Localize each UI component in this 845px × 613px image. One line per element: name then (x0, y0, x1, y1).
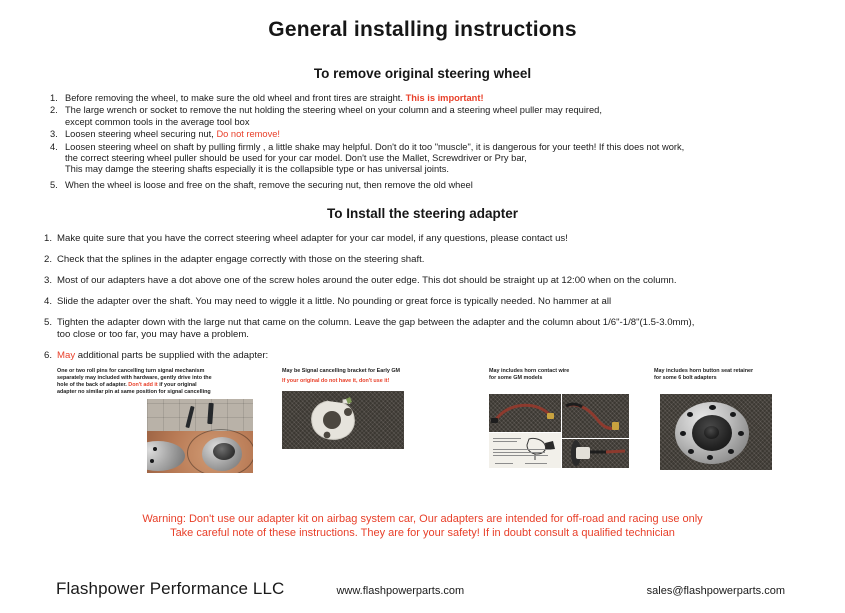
list-item-line: additional parts be supplied with the ad… (75, 350, 268, 361)
figure-row: One or two roll pins for cancelling turn… (0, 368, 845, 508)
list-item: 4. Slide the adapter over the shaft. You… (44, 296, 831, 308)
company-name: Flashpower Performance LLC (56, 579, 284, 599)
list-item-body: Slide the adapter over the shaft. You ma… (57, 296, 831, 308)
list-item: 6. May additional parts be supplied with… (44, 350, 831, 362)
bracket-icon (282, 391, 404, 449)
list-item-body: When the wheel is loose and free on the … (65, 180, 833, 191)
adapter-ring-groove (187, 429, 253, 473)
footer: Flashpower Performance LLC www.flashpowe… (0, 579, 845, 599)
list-item-line: except common tools in the average tool … (65, 117, 833, 128)
caption-line: May be Signal cancelling bracket for Ear… (282, 368, 422, 375)
caption-line: for some 6 bolt adapters (654, 375, 814, 382)
list-item: 1. Before removing the wheel, to make su… (50, 93, 833, 104)
adapter-on-orange-surface (147, 431, 253, 473)
horn-wire-icon (489, 394, 561, 432)
list-item: 3. Most of our adapters have a dot above… (44, 275, 831, 287)
caption-line: for some GM models (489, 375, 639, 382)
section-heading-install-adapter: To Install the steering adapter (0, 206, 845, 221)
warning-text: Warning: Don't use our adapter kit on ai… (0, 512, 845, 540)
sheet-text-line (525, 463, 547, 464)
section-heading-remove-wheel: To remove original steering wheel (0, 66, 845, 81)
list-item-line: This may damge the steering shafts espec… (65, 164, 833, 175)
horn-wire-icon (562, 394, 629, 438)
list-item: 5. When the wheel is loose and free on t… (50, 180, 833, 191)
caption-text: if your original (158, 382, 197, 388)
list-item-line: too close or too far, you may have a pro… (57, 329, 831, 341)
sheet-text-line (493, 455, 548, 456)
figure-horn-contact-wire: May includes horn contact wire for some … (489, 368, 639, 468)
list-item-line: Loosen steering wheel securing nut, (65, 129, 216, 139)
list-item: 4. Loosen steering wheel on shaft by pul… (50, 142, 833, 176)
sheet-text-line (493, 452, 545, 453)
list-item: 3. Loosen steering wheel securing nut, D… (50, 129, 833, 140)
remove-wheel-list: 1. Before removing the wheel, to make su… (0, 93, 845, 191)
email-address[interactable]: sales@flashpowerparts.com (647, 585, 785, 597)
list-item-body: Loosen steering wheel securing nut, Do n… (65, 129, 833, 140)
workshop-floor-background (147, 399, 253, 432)
roll-pins-and-adapter-photo (147, 399, 253, 473)
list-item-number: 5. (44, 317, 57, 329)
horn-contact-wire-photo (489, 394, 629, 468)
list-item-number: 3. (50, 129, 65, 140)
list-item-emphasis: Do not remove! (216, 129, 280, 139)
list-item-emphasis: This is important! (406, 93, 484, 103)
horn-button-seat-retainer-photo (660, 394, 772, 470)
list-item-number: 2. (50, 105, 65, 116)
instruction-sheet (489, 433, 561, 468)
horn-contact-assembly-cell (562, 439, 629, 468)
list-item-number: 5. (50, 180, 65, 191)
list-item-line: the correct steering wheel puller should… (65, 153, 833, 164)
sheet-text-line (493, 438, 521, 439)
list-item-number: 4. (50, 142, 65, 153)
caption-line: adapter no similar pin at same position … (57, 389, 229, 396)
list-item-body: The large wrench or socket to remove the… (65, 105, 833, 128)
warning-line-1: Warning: Don't use our adapter kit on ai… (0, 512, 845, 526)
list-item-number: 3. (44, 275, 57, 287)
sheet-text-line (493, 441, 517, 442)
list-item: 1. Make quite sure that you have the cor… (44, 233, 831, 245)
figure-roll-pins: One or two roll pins for cancelling turn… (57, 368, 229, 473)
list-item-body: Make quite sure that you have the correc… (57, 233, 831, 245)
sheet-text-line (495, 463, 513, 464)
list-item-number: 2. (44, 254, 57, 266)
caption-text: hole of the back of adapter. (57, 382, 128, 388)
list-item-emphasis: May (57, 350, 75, 361)
install-adapter-list: 1. Make quite sure that you have the cor… (0, 233, 845, 362)
bracket-shape-container (282, 391, 404, 449)
caption-line: One or two roll pins for cancelling turn… (57, 368, 229, 375)
list-item-body: May additional parts be supplied with th… (57, 350, 831, 362)
figure-horn-button-seat-retainer: May includes horn button seat retainer f… (654, 368, 814, 470)
instruction-sheet-cell (489, 433, 561, 468)
caption-line: May includes horn contact wire (489, 368, 639, 375)
website-url[interactable]: www.flashpowerparts.com (336, 585, 464, 597)
list-item-line: The large wrench or socket to remove the… (65, 105, 833, 116)
list-item: 2. Check that the splines in the adapter… (44, 254, 831, 266)
signal-cancelling-bracket-photo (282, 391, 404, 449)
figure-caption: One or two roll pins for cancelling turn… (57, 368, 229, 396)
horn-contact-assembly-icon (562, 439, 629, 468)
adapter-flange (147, 441, 185, 471)
sheet-text-line (493, 449, 551, 450)
list-item: 2. The large wrench or socket to remove … (50, 105, 833, 128)
instruction-document-page: General installing instructions To remov… (0, 18, 845, 613)
list-item-body: Most of our adapters have a dot above on… (57, 275, 831, 287)
figure-cancelling-bracket: May be Signal cancelling bracket for Ear… (282, 368, 422, 449)
list-item-number: 6. (44, 350, 57, 362)
warning-line-2: Take careful note of these instructions.… (0, 526, 845, 540)
figure-caption-warning: If your original do not have it, don't u… (282, 378, 422, 385)
list-item-line: Loosen steering wheel on shaft by pullin… (65, 142, 833, 153)
page-title: General installing instructions (0, 18, 845, 42)
list-item-body: Before removing the wheel, to make sure … (65, 93, 833, 104)
caption-emphasis: Don't add it (128, 382, 157, 388)
list-item-line: Before removing the wheel, to make sure … (65, 93, 406, 103)
figure-caption: May includes horn button seat retainer f… (654, 368, 814, 382)
caption-line: May includes horn button seat retainer (654, 368, 814, 375)
figure-caption: May includes horn contact wire for some … (489, 368, 639, 382)
list-item-number: 4. (44, 296, 57, 308)
list-item-body: Check that the splines in the adapter en… (57, 254, 831, 266)
list-item-body: Tighten the adapter down with the large … (57, 317, 831, 341)
wire-photo-cell (489, 394, 561, 432)
caption-line: separately may included with hardware, g… (57, 375, 229, 382)
list-item-body: Loosen steering wheel on shaft by pullin… (65, 142, 833, 176)
list-item-number: 1. (50, 93, 65, 104)
wire-photo-cell (562, 394, 629, 438)
list-item: 5. Tighten the adapter down with the lar… (44, 317, 831, 341)
list-item-line: Tighten the adapter down with the large … (57, 317, 831, 329)
figure-caption: May be Signal cancelling bracket for Ear… (282, 368, 422, 375)
list-item-number: 1. (44, 233, 57, 245)
caption-line: hole of the back of adapter. Don't add i… (57, 382, 229, 389)
